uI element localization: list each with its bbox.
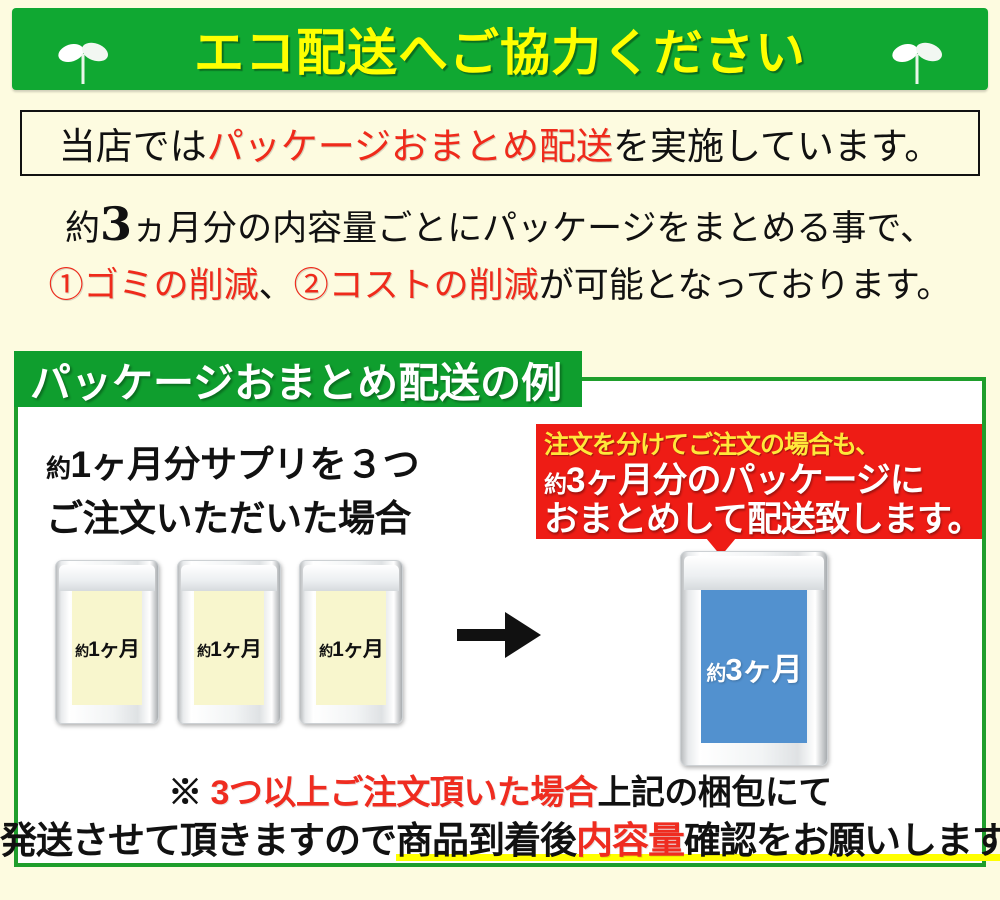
bottom-notes: ※ 3つ以上ご注文頂いた場合上記の梱包にて 発送させて頂きますので商品到着後内容… — [0, 770, 1000, 866]
pouch-label: 約1ヶ月 — [316, 591, 386, 705]
pouch-label-prefix: 約 — [706, 663, 725, 685]
pouch-seal — [59, 565, 155, 591]
bottom-note-line-1: ※ 3つ以上ご注文頂いた場合上記の梱包にて — [0, 770, 1000, 816]
mid-line1-number: 3 — [100, 197, 132, 251]
order-case-caption: 約1ヶ月分サプリを３つ ご注文いただいた場合 — [46, 440, 419, 544]
pouch-label-text: 約3ヶ月 — [706, 644, 801, 689]
note-mark: ※ — [168, 774, 210, 812]
benefit-item-1: ①ゴミの削減 — [49, 266, 259, 306]
bottom-note-line-2: 発送させて頂きますので商品到着後内容量確認をお願いします。 — [0, 816, 1000, 866]
order-case-line1-prefix: 約 — [46, 455, 71, 483]
callout-line2-text: 3ヶ月分のパッケージに — [566, 461, 924, 500]
pouch-label-value: 3ヶ月 — [725, 652, 801, 687]
sprout-icon — [888, 34, 946, 86]
order-case-line-2: ご注文いただいた場合 — [46, 494, 419, 544]
header-title: エコ配送へご協力ください — [194, 13, 806, 85]
note-line1-tail: 上記の梱包にて — [597, 774, 832, 812]
pouch-label: 約1ヶ月 — [72, 591, 142, 705]
pouch-label-value: 1ヶ月 — [210, 638, 261, 661]
callout-line-2: 約3ヶ月分のパッケージに — [544, 463, 982, 502]
example-section-tab: パッケージおまとめ配送の例 — [14, 351, 582, 407]
statement-prefix: 当店では — [59, 125, 207, 168]
statement-suffix: を実施しています。 — [613, 125, 941, 168]
package-pouch-large: 約3ヶ月 — [680, 551, 828, 766]
callout-line-3: おまとめして配送致します。 — [544, 502, 982, 537]
statement-text: 当店ではパッケージおまとめ配送を実施しています。 — [59, 116, 941, 170]
header-banner: エコ配送へご協力ください — [12, 8, 988, 90]
eco-shipping-banner: エコ配送へご協力ください 当店ではパッケージおまとめ配送を実施しています。 約3… — [0, 0, 1000, 900]
right-arrow-icon — [455, 605, 545, 665]
benefit-item-2: ②コストの削減 — [294, 266, 539, 306]
note-line2-b: 商品到着後 — [396, 820, 576, 861]
pouch-label-text: 約1ヶ月 — [197, 633, 261, 663]
package-pouch-small: 約1ヶ月 — [177, 560, 281, 724]
mid-line1-rest: ヵ月分の内容量ごとにパッケージをまとめる事で、 — [132, 209, 935, 249]
order-case-line1-text: 1ヶ月分サプリを３つ — [71, 444, 420, 485]
pouch-label: 約1ヶ月 — [194, 591, 264, 705]
pouch-label-prefix: 約 — [197, 643, 210, 659]
mid-paragraph-line-1: 約3ヵ月分の内容量ごとにパッケージをまとめる事で、 — [0, 196, 1000, 257]
sprout-icon — [54, 34, 112, 86]
pouch-seal — [181, 565, 277, 591]
pouch-label-prefix: 約 — [319, 643, 332, 659]
pouch-label: 約3ヶ月 — [701, 590, 807, 743]
mid-line1-prefix: 約 — [65, 209, 100, 249]
merge-shipping-callout: 注文を分けてご注文の場合も、 約3ヶ月分のパッケージに おまとめして配送致します… — [536, 424, 982, 539]
statement-emphasis: パッケージおまとめ配送 — [207, 125, 613, 168]
pouch-seal — [684, 556, 824, 590]
note-line2-a: 発送させて頂きますので — [0, 820, 396, 861]
pouch-label-value: 1ヶ月 — [88, 638, 139, 661]
pouch-label-value: 1ヶ月 — [332, 638, 383, 661]
benefit-separator: 、 — [259, 266, 294, 306]
note-emphasis-1: 3つ以上ご注文頂いた場合 — [211, 774, 598, 812]
example-tab-label: パッケージおまとめ配送の例 — [30, 349, 562, 409]
pouch-seal — [303, 565, 399, 591]
callout-line-1: 注文を分けてご注文の場合も、 — [544, 428, 982, 463]
mid-paragraph: 約3ヵ月分の内容量ごとにパッケージをまとめる事で、 ①ゴミの削減、②コストの削減… — [0, 196, 1000, 315]
mid-paragraph-line-2: ①ゴミの削減、②コストの削減が可能となっております。 — [0, 257, 1000, 315]
pouch-label-text: 約1ヶ月 — [75, 633, 139, 663]
benefit-tail: が可能となっております。 — [539, 266, 952, 306]
package-pouch-small: 約1ヶ月 — [299, 560, 403, 724]
pouch-label-text: 約1ヶ月 — [319, 633, 383, 663]
callout-line2-prefix: 約 — [544, 471, 566, 497]
note-emphasis-2: 内容量 — [576, 820, 684, 861]
package-pouch-small: 約1ヶ月 — [55, 560, 159, 724]
order-case-line-1: 約1ヶ月分サプリを３つ — [46, 440, 419, 494]
note-line2-c: 確認をお願いします。 — [684, 820, 1000, 861]
statement-box: 当店ではパッケージおまとめ配送を実施しています。 — [20, 110, 980, 176]
pouch-label-prefix: 約 — [75, 643, 88, 659]
